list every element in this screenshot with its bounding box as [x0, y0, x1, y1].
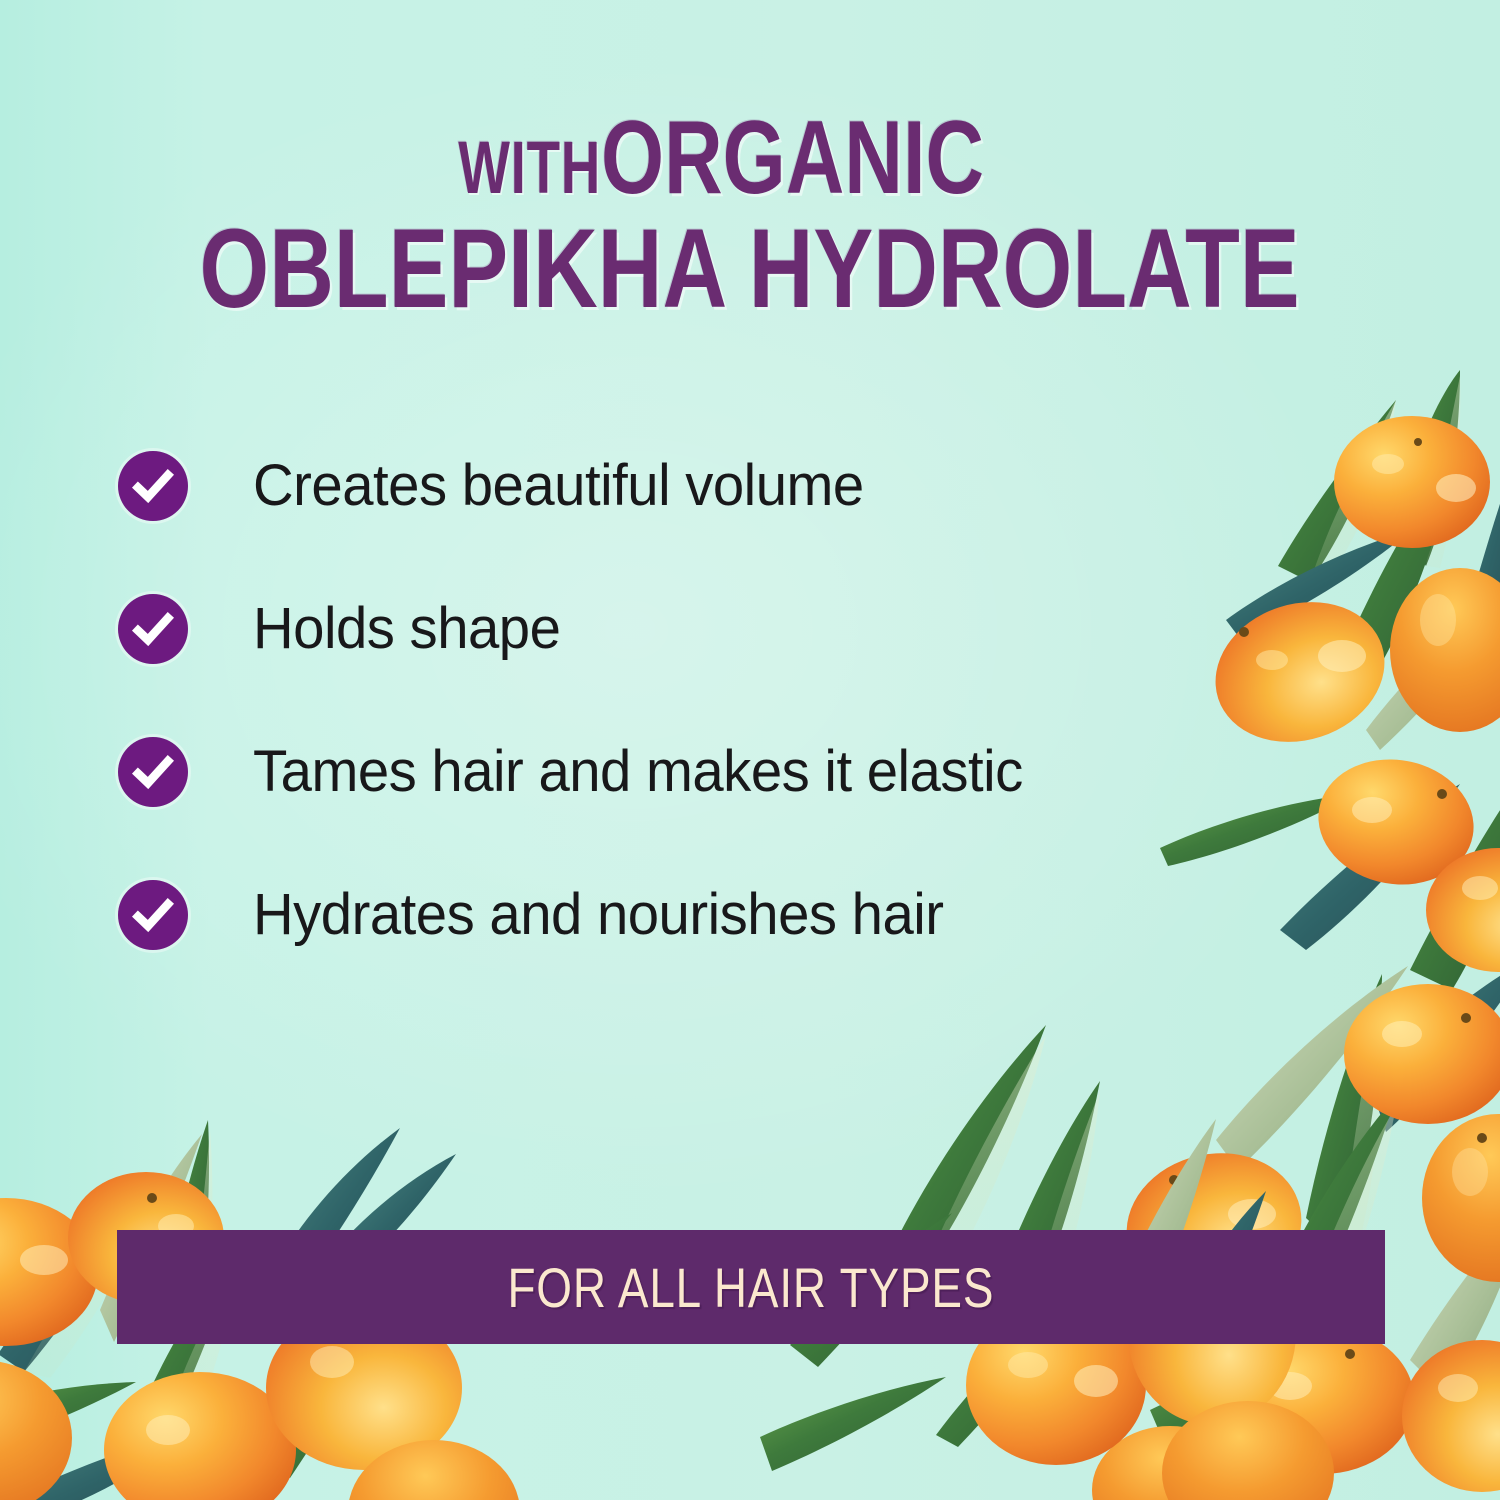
headline-with: WITH [458, 132, 601, 204]
list-item: Tames hair and makes it elastic [118, 729, 1318, 872]
check-icon [118, 880, 188, 950]
check-icon [118, 737, 188, 807]
list-item-label: Creates beautiful volume [253, 443, 864, 529]
list-item-label: Holds shape [253, 586, 560, 672]
benefits-list: Creates beautiful volume Holds shape Tam… [118, 443, 1318, 1015]
headline-line-2: OBLEPIKHA HYDROLATE [0, 215, 1500, 324]
list-item: Holds shape [118, 586, 1318, 729]
for-all-hair-types-banner: FOR ALL HAIR TYPES [117, 1230, 1385, 1344]
list-item-label: Tames hair and makes it elastic [253, 729, 1023, 815]
headline-line-1: WITHORGANIC [0, 108, 1500, 209]
check-icon [118, 451, 188, 521]
infographic-canvas: WITHORGANIC OBLEPIKHA HYDROLATE Creates … [0, 0, 1500, 1500]
headline-oblepikha-hydrolate: OBLEPIKHA HYDROLATE [200, 215, 1300, 324]
headline-organic: ORGANIC [601, 108, 984, 209]
page-title: WITHORGANIC OBLEPIKHA HYDROLATE [0, 108, 1500, 324]
banner-label: FOR ALL HAIR TYPES [508, 1255, 995, 1320]
list-item: Creates beautiful volume [118, 443, 1318, 586]
list-item-label: Hydrates and nourishes hair [253, 872, 944, 958]
check-icon [118, 594, 188, 664]
list-item: Hydrates and nourishes hair [118, 872, 1318, 1015]
